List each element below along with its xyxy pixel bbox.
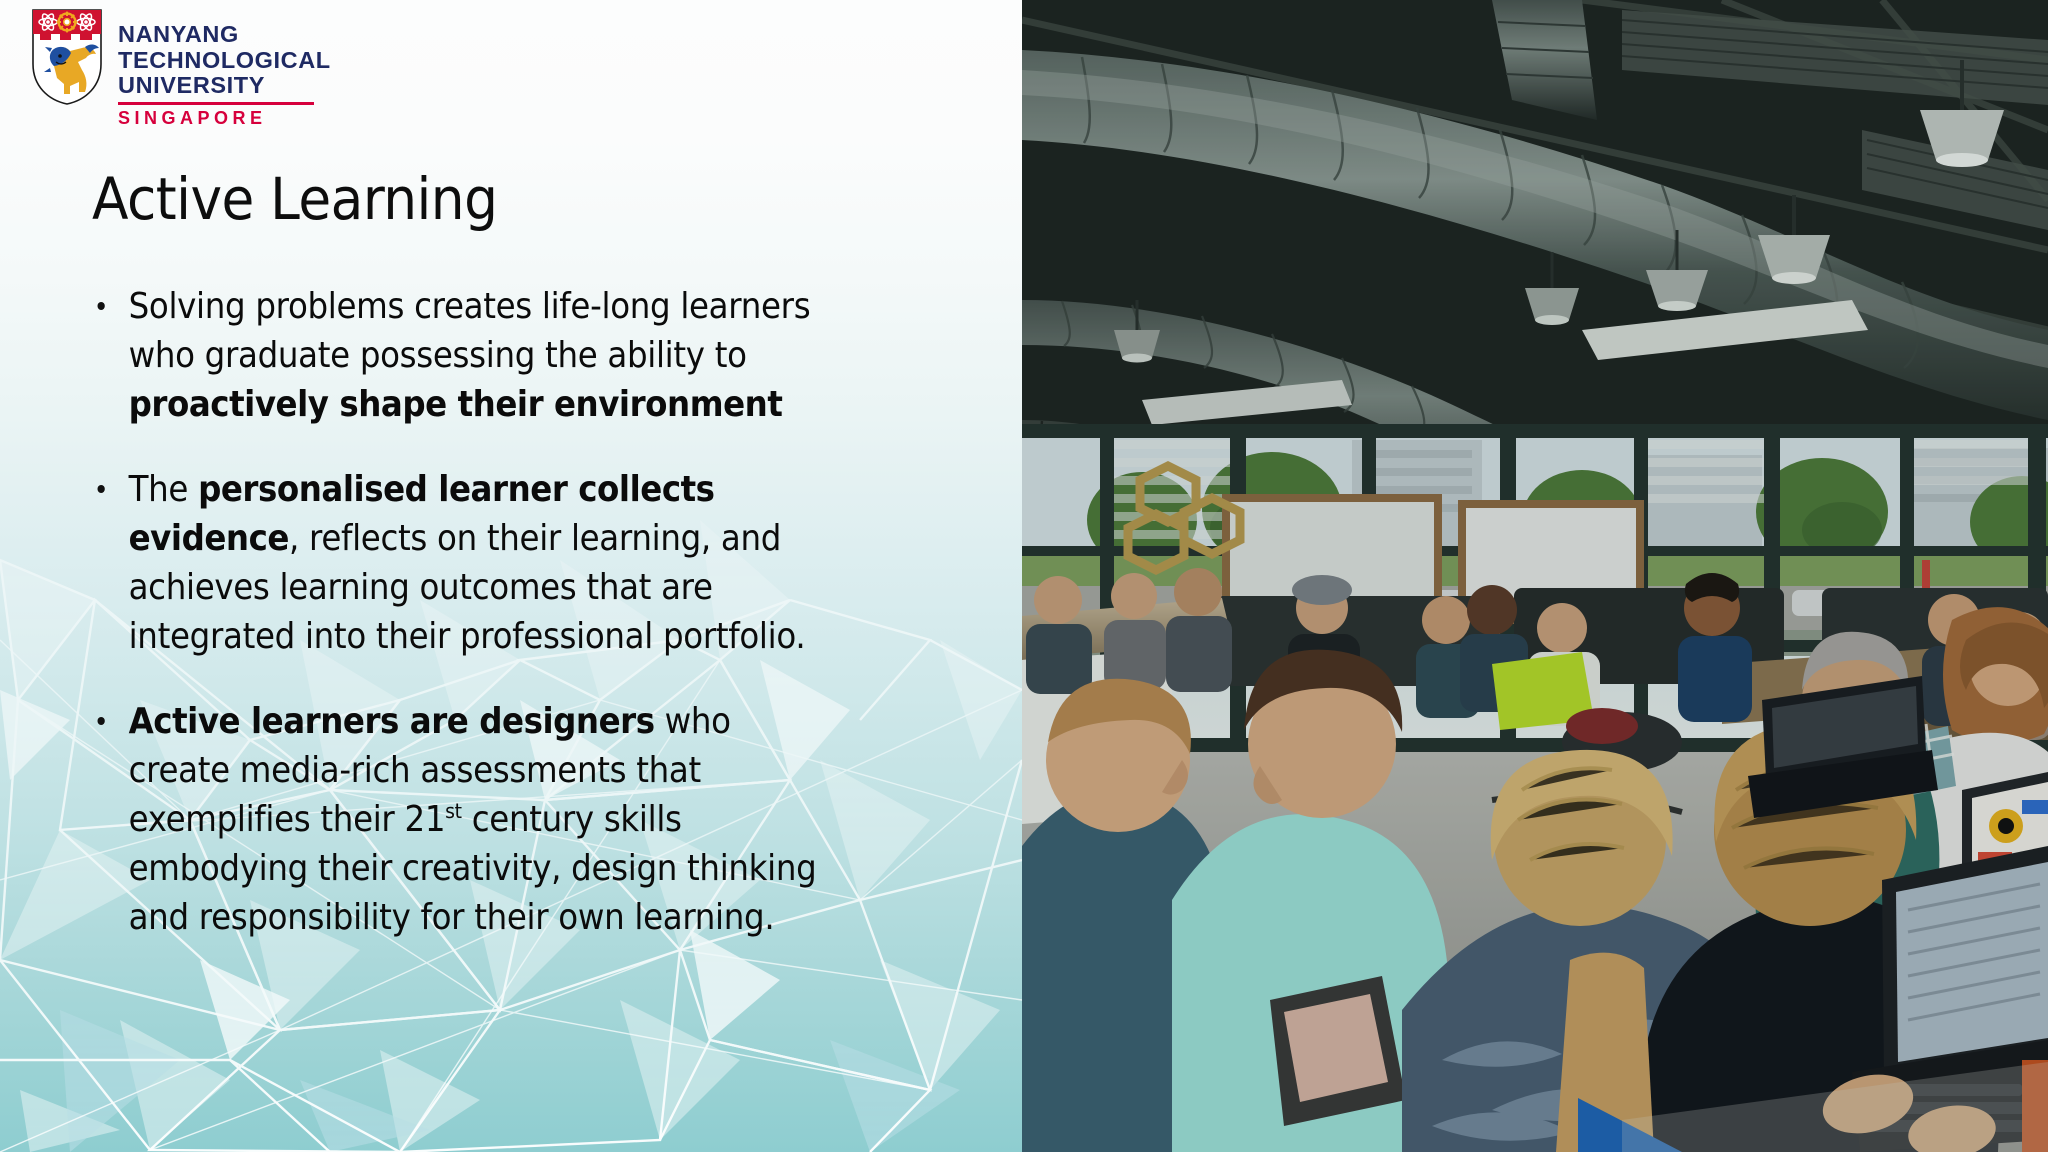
bullet-text: The bbox=[129, 469, 198, 510]
bullet-dot-icon bbox=[97, 717, 104, 725]
page-title: Active Learning bbox=[92, 168, 497, 230]
ntu-logo: NANYANG TECHNOLOGICAL UNIVERSITY SINGAPO… bbox=[30, 8, 331, 129]
wordmark-line-3: UNIVERSITY bbox=[118, 73, 331, 99]
slide-left-panel: NANYANG TECHNOLOGICAL UNIVERSITY SINGAPO… bbox=[0, 0, 1022, 1152]
bullet-text: Solving problems creates life-long learn… bbox=[129, 286, 811, 376]
wordmark-country: SINGAPORE bbox=[118, 108, 331, 129]
wordmark-line-2: TECHNOLOGICAL bbox=[118, 48, 331, 74]
bullet-1: Solving problems creates life-long learn… bbox=[92, 282, 833, 429]
photo-illustration bbox=[1022, 0, 2048, 1152]
bullet-3: Active learners are designers who create… bbox=[92, 697, 833, 942]
slide: NANYANG TECHNOLOGICAL UNIVERSITY SINGAPO… bbox=[0, 0, 2048, 1152]
bullet-superscript: st bbox=[445, 799, 462, 823]
active-learning-classroom-photo bbox=[1022, 0, 2048, 1152]
wordmark-divider bbox=[118, 102, 314, 105]
bullet-emphasis: proactively shape their environment bbox=[129, 384, 783, 425]
bullet-emphasis: Active learners are designers bbox=[129, 701, 655, 742]
bullet-dot-icon bbox=[97, 302, 104, 310]
bullet-2: The personalised learner collects eviden… bbox=[92, 465, 833, 661]
ntu-crest-icon bbox=[30, 8, 104, 106]
bullet-dot-icon bbox=[97, 485, 104, 493]
wordmark-line-1: NANYANG bbox=[118, 22, 331, 48]
ntu-wordmark: NANYANG TECHNOLOGICAL UNIVERSITY SINGAPO… bbox=[118, 8, 331, 129]
bullet-list: Solving problems creates life-long learn… bbox=[92, 282, 902, 942]
